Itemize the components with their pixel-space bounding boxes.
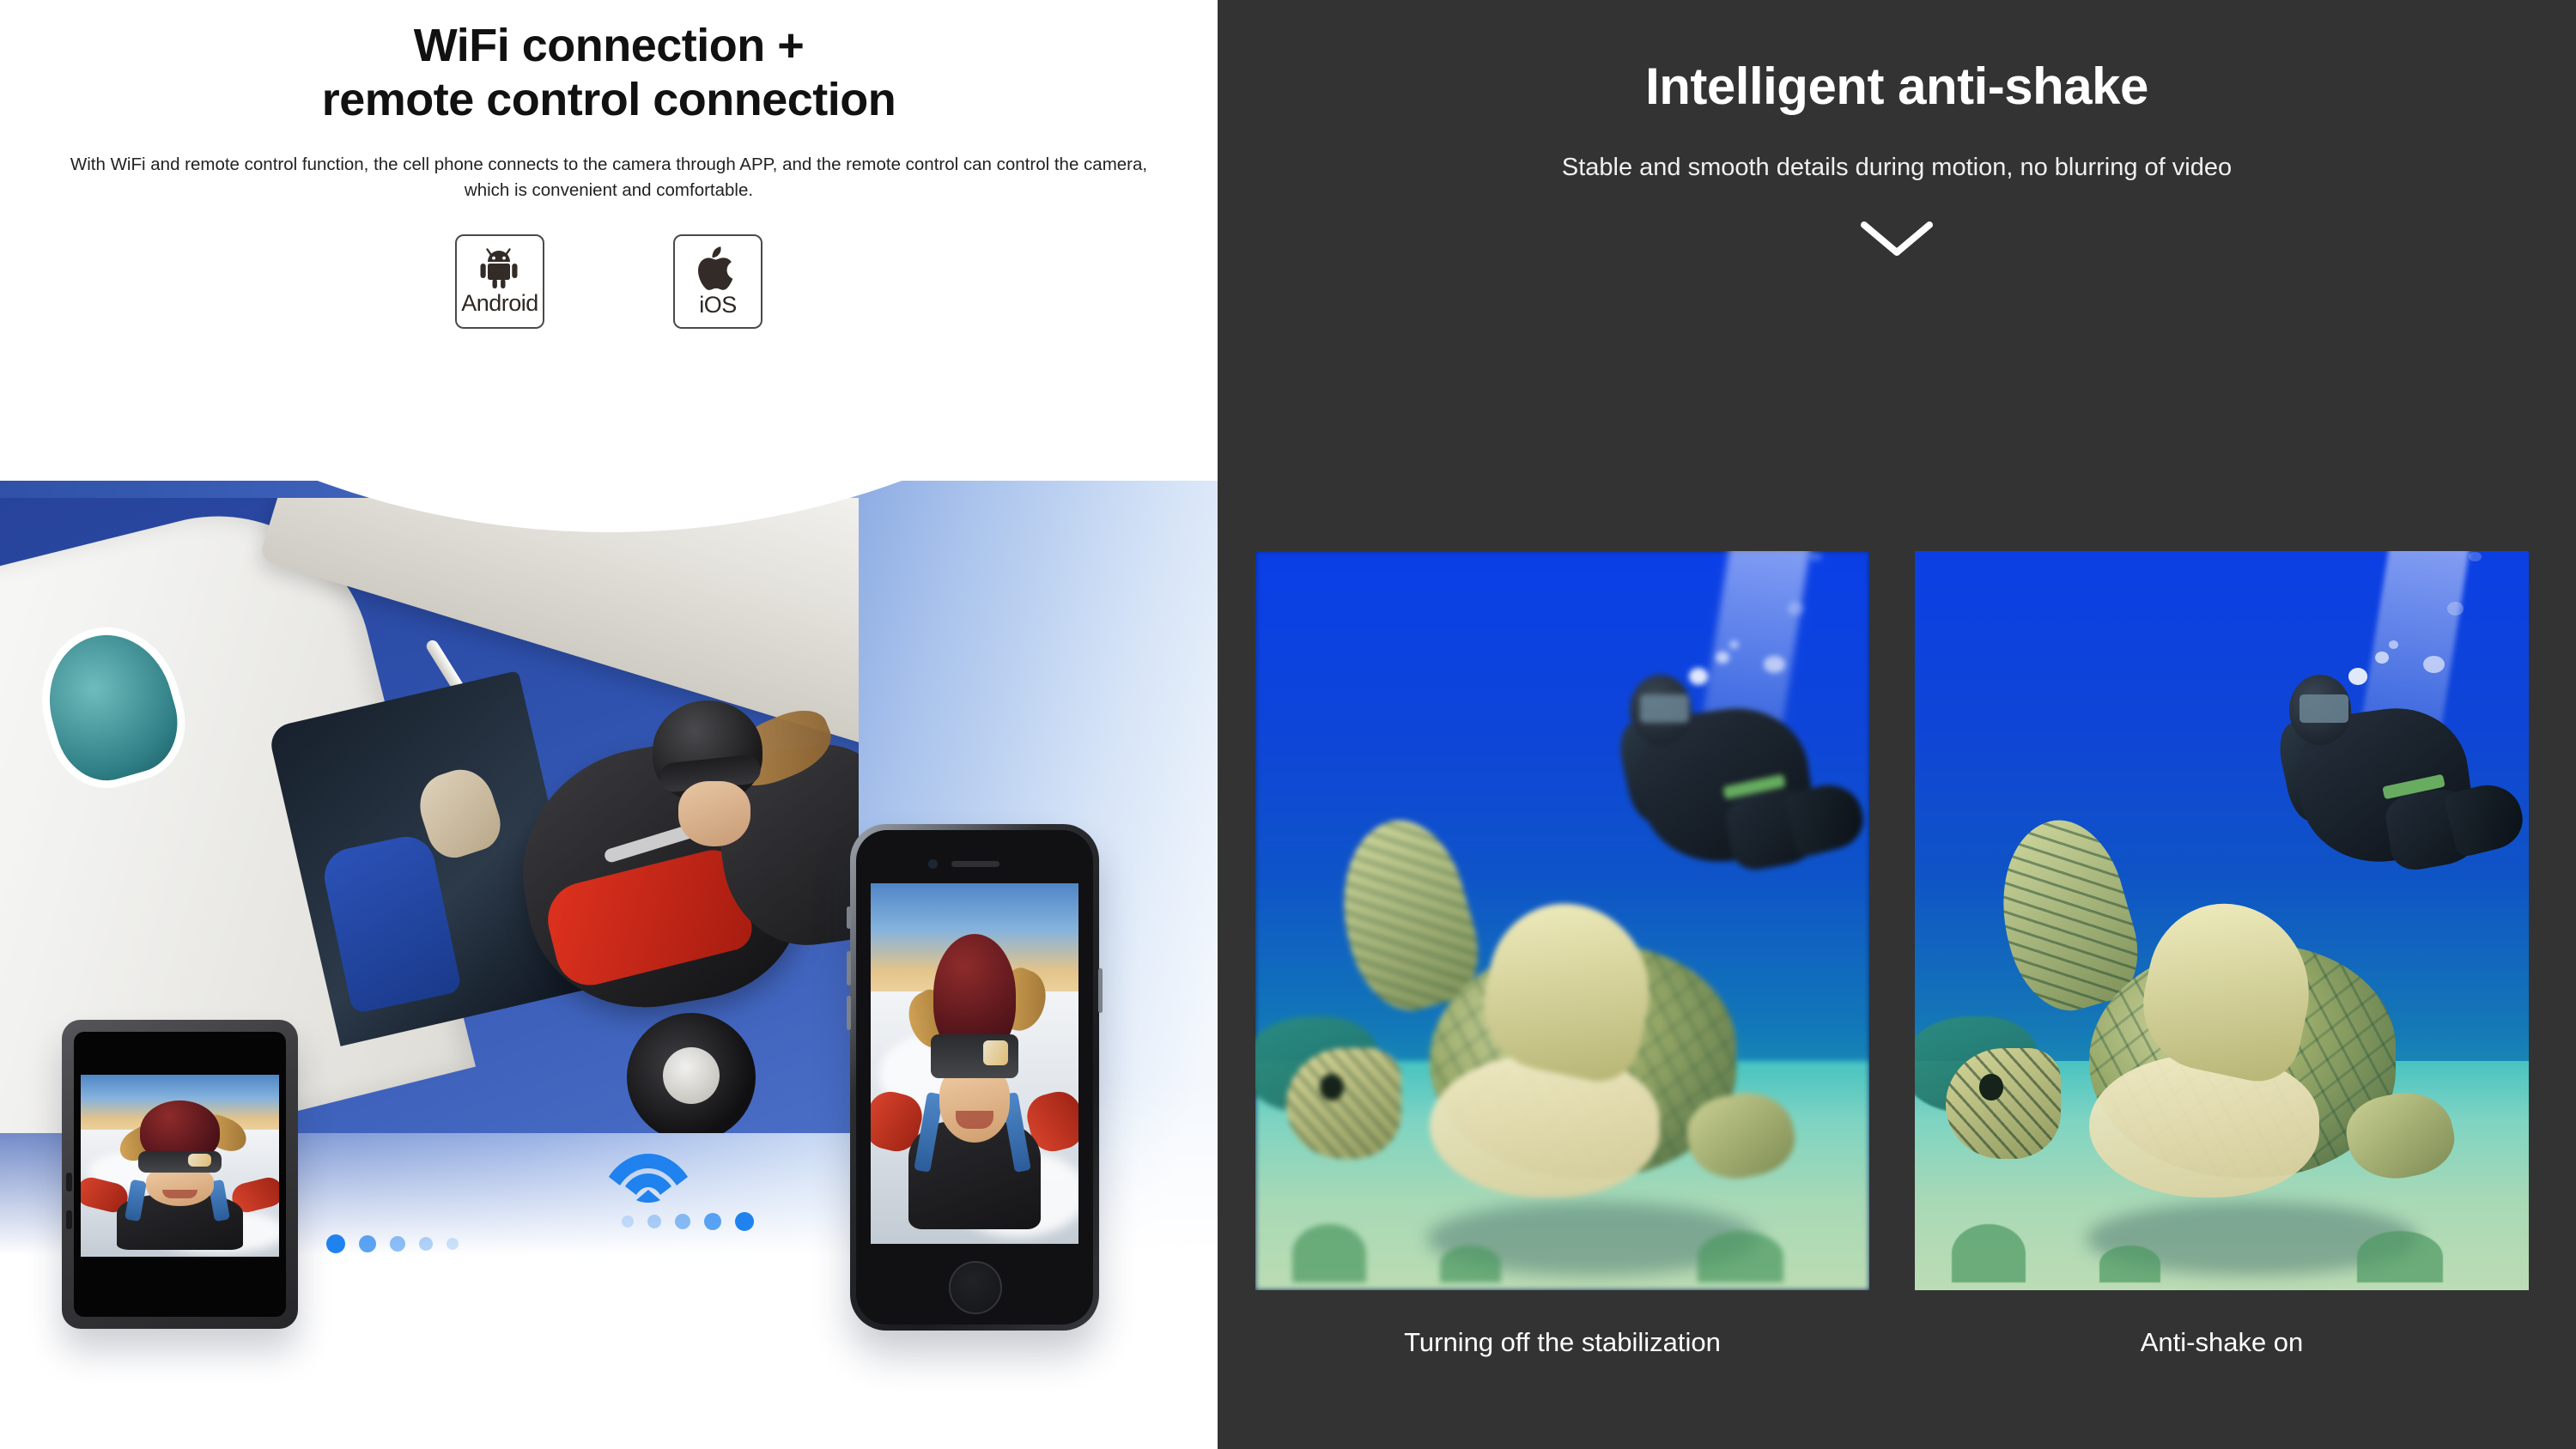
smartphone xyxy=(850,824,1099,1331)
ios-badge[interactable]: iOS xyxy=(673,234,762,329)
ios-badge-label: iOS xyxy=(699,294,737,317)
sea-turtle xyxy=(1946,899,2425,1224)
phone-screen xyxy=(871,883,1078,1244)
sea-turtle xyxy=(1286,899,1765,1224)
phone-front-camera-icon xyxy=(928,859,938,869)
skydiver-face xyxy=(678,781,750,846)
page-title: WiFi connection + remote control connect… xyxy=(0,0,1218,126)
wifi-signal-icon xyxy=(601,1133,696,1203)
phone-preview-image xyxy=(871,883,1078,1244)
android-badge[interactable]: Android xyxy=(455,234,544,329)
underwater-scene-blurry xyxy=(1255,551,1869,1290)
anti-shake-panel: Intelligent anti-shake Stable and smooth… xyxy=(1218,0,2576,1449)
phone-mute-switch xyxy=(847,906,851,929)
anti-shake-title: Intelligent anti-shake xyxy=(1218,0,2576,116)
camera-screen xyxy=(74,1032,286,1317)
comparison-image-off xyxy=(1255,551,1869,1290)
title-line-2: remote control connection xyxy=(0,73,1218,127)
left-header-content: WiFi connection + remote control connect… xyxy=(0,0,1218,329)
android-robot-icon xyxy=(476,247,524,290)
chevron-down-icon[interactable] xyxy=(1859,218,1935,264)
wifi-connection-panel: WiFi connection + remote control connect… xyxy=(0,0,1218,1449)
android-badge-label: Android xyxy=(461,292,538,315)
airplane-wheel-hub xyxy=(663,1047,720,1104)
platform-badges: Android iOS xyxy=(0,234,1218,329)
page-description: With WiFi and remote control function, t… xyxy=(51,152,1167,203)
apple-logo-icon xyxy=(697,246,738,292)
caption-stabilization-off: Turning off the stabilization xyxy=(1255,1327,1869,1358)
comparison-captions: Turning off the stabilization Anti-shake… xyxy=(1255,1327,2529,1358)
phone-volume-up xyxy=(847,951,851,985)
caption-anti-shake-on: Anti-shake on xyxy=(1915,1327,2529,1358)
skydiver-selfie-artwork xyxy=(81,1075,279,1257)
product-feature-banner: WiFi connection + remote control connect… xyxy=(0,0,2576,1449)
phone-home-button[interactable] xyxy=(949,1261,1002,1314)
stabilization-comparison xyxy=(1255,551,2529,1290)
action-camera xyxy=(62,1020,298,1329)
wifi-connection-indicator xyxy=(601,1133,696,1203)
title-line-1: WiFi connection + xyxy=(0,19,1218,73)
scroll-hint xyxy=(1218,218,2576,264)
phone-earpiece xyxy=(951,861,999,867)
anti-shake-subtitle: Stable and smooth details during motion,… xyxy=(1218,154,2576,182)
phone-power-button xyxy=(1098,968,1103,1013)
camera-button-bottom xyxy=(66,1210,72,1229)
phone-body xyxy=(856,830,1093,1325)
wifi-dot-trail-up xyxy=(326,1234,459,1253)
phone-volume-down xyxy=(847,996,851,1030)
underwater-scene-sharp xyxy=(1915,551,2529,1290)
comparison-image-on xyxy=(1915,551,2529,1290)
camera-preview-image xyxy=(81,1075,279,1257)
wifi-dot-trail-down xyxy=(622,1212,754,1231)
camera-button-top xyxy=(66,1173,72,1191)
